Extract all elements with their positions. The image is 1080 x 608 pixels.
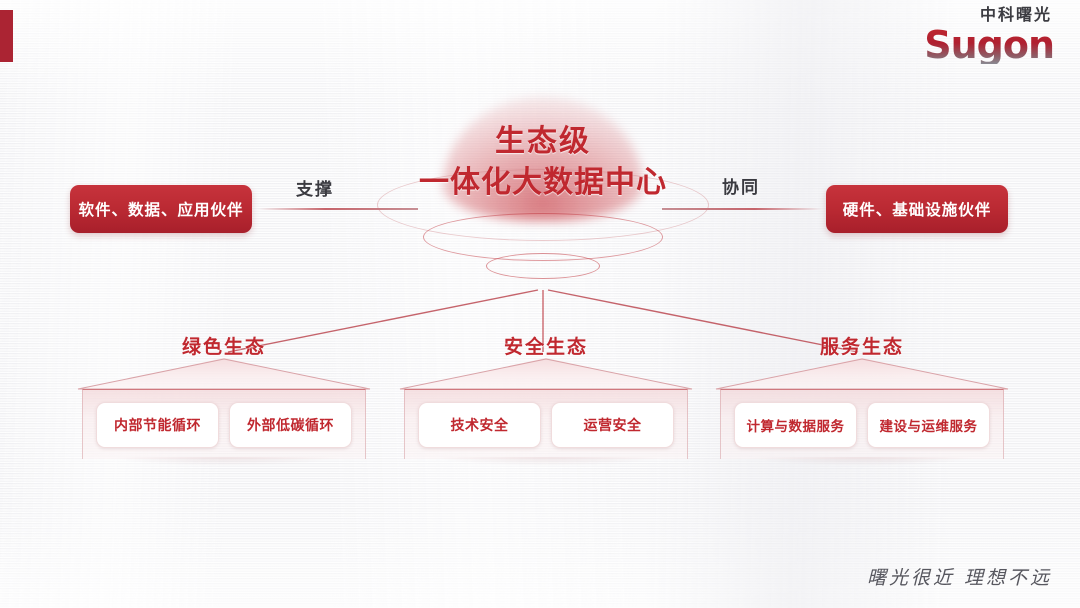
- hub-title: 生态级 一体化大数据中心: [333, 123, 753, 202]
- relation-label-collaborate: 协同: [722, 173, 760, 198]
- pillar-item[interactable]: 运营安全: [551, 402, 674, 448]
- pillar-roof: [76, 358, 372, 390]
- partner-box-hardware[interactable]: 硬件、基础设施伙伴: [826, 185, 1008, 233]
- pillar-title: 绿色生态: [76, 332, 372, 359]
- pillar-roof-outline: [714, 358, 1010, 390]
- pillar-title: 服务生态: [714, 332, 1010, 359]
- hub-title-line-1: 生态级: [333, 123, 753, 161]
- pillar-item[interactable]: 外部低碳循环: [229, 402, 352, 448]
- pillar-roof: [714, 358, 1010, 390]
- logo-wordmark: Sugon: [924, 26, 1054, 64]
- pillar-item[interactable]: 计算与数据服务: [734, 402, 857, 448]
- hub-title-line-2: 一体化大数据中心: [333, 163, 753, 202]
- accent-bar: [0, 10, 13, 62]
- pillar-security-ecosystem[interactable]: 安全生态 技术安全 运营安全: [398, 358, 694, 466]
- logo-chinese-name: 中科曙光: [924, 8, 1052, 24]
- pillar-roof-outline: [398, 358, 694, 390]
- pillar-roof: [398, 358, 694, 390]
- pillar-green-ecosystem[interactable]: 绿色生态 内部节能循环 外部低碳循环: [76, 358, 372, 466]
- relation-label-support: 支撑: [296, 175, 334, 200]
- pillar-body: 内部节能循环 外部低碳循环: [82, 389, 366, 459]
- footer-tagline: 曙光很近 理想不远: [867, 563, 1052, 590]
- partner-box-hardware-label: 硬件、基础设施伙伴: [843, 198, 992, 220]
- partner-box-software-label: 软件、数据、应用伙伴: [78, 198, 243, 220]
- central-hub: 生态级 一体化大数据中心: [333, 95, 753, 285]
- pillar-body: 计算与数据服务 建设与运维服务: [720, 389, 1004, 459]
- pillar-service-ecosystem[interactable]: 服务生态 计算与数据服务 建设与运维服务: [714, 358, 1010, 466]
- pillar-item[interactable]: 内部节能循环: [96, 402, 219, 448]
- sugon-logo: 中科曙光 Sugon: [924, 8, 1054, 64]
- pillar-item[interactable]: 建设与运维服务: [867, 402, 990, 448]
- pillar-title: 安全生态: [398, 332, 694, 359]
- pillar-item[interactable]: 技术安全: [418, 402, 541, 448]
- pillar-body: 技术安全 运营安全: [404, 389, 688, 459]
- partner-box-software[interactable]: 软件、数据、应用伙伴: [70, 185, 252, 233]
- branch-connectors: [0, 0, 1080, 608]
- slide-canvas: 中科曙光 Sugon 生态级 一体化大数据中心 支撑 软件、数据、应用伙伴 协同…: [0, 0, 1080, 608]
- hub-orbit-ring-inner: [486, 253, 600, 279]
- pillar-roof-outline: [76, 358, 372, 390]
